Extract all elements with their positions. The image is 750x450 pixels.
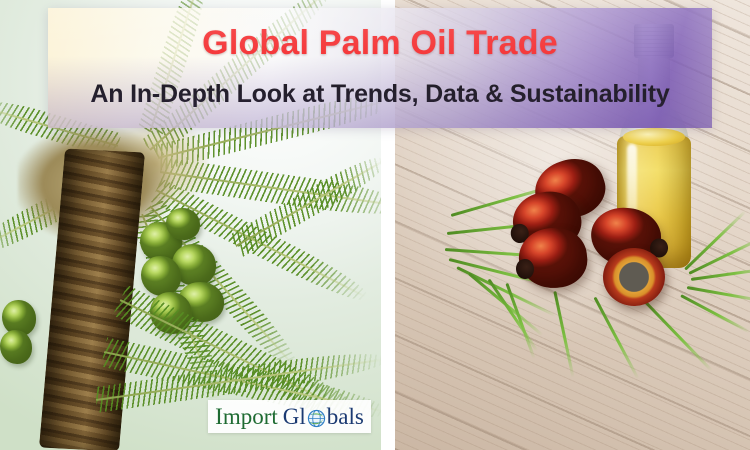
logo-word-gl: Gl [283, 405, 306, 428]
header-banner: Global Palm Oil Trade An In-Depth Look a… [48, 8, 712, 128]
logo-word-bals: bals [327, 405, 364, 428]
coconut [166, 208, 200, 240]
globe-icon [307, 409, 326, 428]
import-globals-logo[interactable]: Import Gl bals [208, 400, 371, 433]
page-subtitle: An In-Depth Look at Trends, Data & Susta… [48, 80, 712, 109]
coconut [141, 256, 181, 296]
logo-text: Import Gl bals [215, 405, 364, 428]
palm-fruit-cut [603, 248, 665, 306]
coconut [0, 330, 32, 364]
page-title: Global Palm Oil Trade [48, 24, 712, 63]
logo-word-import: Import [215, 405, 278, 428]
promo-banner-graphic: Import Gl bals [0, 0, 750, 450]
